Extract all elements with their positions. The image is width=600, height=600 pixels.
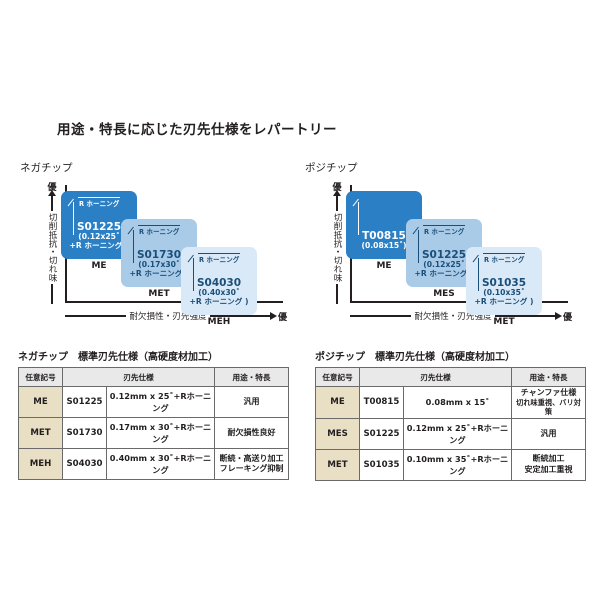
cell-grade: S04030 (63, 449, 107, 480)
cell-grade: S01730 (63, 418, 107, 449)
chip-box-s04030-meh[interactable]: R ホーニング S04030 (0.40x30˚ +R ホーニング ) MEH (181, 247, 257, 315)
table-row[interactable]: ME T00815 0.08mm x 15˚ チャンファ仕様 切れ味重視、バリ対… (316, 387, 586, 419)
spec-table-negative: 任意記号 刃先仕様 用途・特長 ME S01225 0.12mm x 25˚+R… (18, 367, 289, 480)
cell-symbol: ME (316, 387, 360, 419)
table-row[interactable]: MET S01035 0.10mm x 35˚+Rホーニング 断続加工 安定加工… (316, 449, 586, 480)
cell-use-line1: チャンファ仕様 (513, 388, 584, 398)
cell-use-line1: 断続加工 (513, 454, 584, 464)
cell-symbol: ME (19, 387, 63, 418)
y-axis-arrow-icon (51, 195, 53, 211)
table-header-row: 任意記号 刃先仕様 用途・特長 (316, 368, 586, 387)
cell-use: 汎用 (215, 387, 289, 418)
chip-spec-line2: +R ホーニング ) (466, 298, 542, 307)
cell-symbol: MES (316, 418, 360, 449)
y-axis-label: 切削抵抗・切れ味 (331, 213, 343, 282)
cell-use-line2: 切れ味重視、バリ対策 (513, 398, 584, 416)
cell-grade: S01035 (360, 449, 404, 480)
y-axis-label: 切削抵抗・切れ味 (46, 213, 58, 282)
cell-spec: 0.40mm x 30˚+Rホーニング (107, 449, 215, 480)
spec-table-positive: 任意記号 刃先仕様 用途・特長 ME T00815 0.08mm x 15˚ チ… (315, 367, 586, 481)
leader-line-vertical (133, 230, 134, 263)
cell-use-line1: 耐欠損性良好 (216, 428, 287, 438)
cell-spec: 0.17mm x 30˚+Rホーニング (107, 418, 215, 449)
chip-box-s01035-met[interactable]: R ホーニング S01035 (0.10x35˚ +R ホーニング ) MET (466, 247, 542, 315)
chip-caption: MEH (181, 317, 257, 327)
th-symbol: 任意記号 (19, 368, 63, 387)
cell-use-line1: 汎用 (216, 397, 287, 407)
cell-use: 断続加工 安定加工重視 (512, 449, 586, 480)
cell-use-line1: 汎用 (513, 429, 584, 439)
table-row[interactable]: MEH S04030 0.40mm x 30˚+Rホーニング 断続・高送り加工 … (19, 449, 289, 480)
cell-spec: 0.12mm x 25˚+Rホーニング (107, 387, 215, 418)
cell-use: チャンファ仕様 切れ味重視、バリ対策 (512, 387, 586, 419)
leader-line-vertical (193, 258, 194, 291)
th-symbol: 任意記号 (316, 368, 360, 387)
x-axis-left-line (65, 315, 126, 317)
cell-symbol: MEH (19, 449, 63, 480)
cell-grade: S01225 (360, 418, 404, 449)
cell-grade: T00815 (360, 387, 404, 419)
hone-label: R ホーニング (198, 253, 240, 264)
y-axis-tail-line (336, 284, 338, 304)
leader-line-vertical (73, 202, 74, 235)
chart-heading-negative: ネガチップ (20, 160, 73, 175)
table-block-positive: ポジチップ 標準刃先仕様（高硬度材加工） 任意記号 刃先仕様 用途・特長 ME … (315, 348, 595, 481)
hone-label: R ホーニング (483, 253, 525, 264)
cell-use: 断続・高送り加工 フレーキング抑制 (215, 449, 289, 480)
cell-spec: 0.08mm x 15˚ (404, 387, 512, 419)
chart-panel-positive: ポジチップ 優 切削抵抗・切れ味 耐欠損性・刃先強度 優 T00815 (0.0… (303, 160, 578, 325)
th-use: 用途・特長 (512, 368, 586, 387)
cell-grade: S01225 (63, 387, 107, 418)
hone-label: R ホーニング (423, 225, 465, 236)
page-title: 用途・特長に応じた刃先仕様をレパートリー (57, 118, 337, 138)
table-row[interactable]: MES S01225 0.12mm x 25˚+Rホーニング 汎用 (316, 418, 586, 449)
table-title: ネガチップ 標準刃先仕様（高硬度材加工） (18, 348, 298, 363)
leader-line-vertical (478, 258, 479, 291)
y-axis-arrow-icon (336, 195, 338, 211)
chip-caption: MET (466, 317, 542, 327)
table-block-negative: ネガチップ 標準刃先仕様（高硬度材加工） 任意記号 刃先仕様 用途・特長 ME … (18, 348, 298, 480)
leader-line-vertical (418, 230, 419, 263)
y-axis-tail-line (51, 284, 53, 304)
cell-use: 汎用 (512, 418, 586, 449)
table-title: ポジチップ 標準刃先仕様（高硬度材加工） (315, 348, 595, 363)
table-row[interactable]: MET S01730 0.17mm x 30˚+Rホーニング 耐欠損性良好 (19, 418, 289, 449)
leader-line-vertical (358, 202, 359, 235)
chip-spec-line2: +R ホーニング ) (181, 298, 257, 307)
hone-label: R ホーニング (138, 225, 180, 236)
cell-symbol: MET (19, 418, 63, 449)
cell-use-line2: フレーキング抑制 (216, 464, 287, 474)
th-use: 用途・特長 (215, 368, 289, 387)
hone-label: R ホーニング (78, 197, 120, 208)
chart-panel-negative: ネガチップ 優 切削抵抗・切れ味 耐欠損性・刃先強度 優 R ホーニング S01… (18, 160, 293, 325)
th-spec: 刃先仕様 (63, 368, 215, 387)
chart-heading-positive: ポジチップ (305, 160, 358, 175)
cell-symbol: MET (316, 449, 360, 480)
cell-spec: 0.12mm x 25˚+Rホーニング (404, 418, 512, 449)
table-row[interactable]: ME S01225 0.12mm x 25˚+Rホーニング 汎用 (19, 387, 289, 418)
cell-use: 耐欠損性良好 (215, 418, 289, 449)
cell-spec: 0.10mm x 35˚+Rホーニング (404, 449, 512, 480)
cell-use-line1: 断続・高送り加工 (216, 454, 287, 464)
table-header-row: 任意記号 刃先仕様 用途・特長 (19, 368, 289, 387)
cell-use-line2: 安定加工重視 (513, 465, 584, 475)
th-spec: 刃先仕様 (360, 368, 512, 387)
x-axis-left-line (350, 315, 411, 317)
